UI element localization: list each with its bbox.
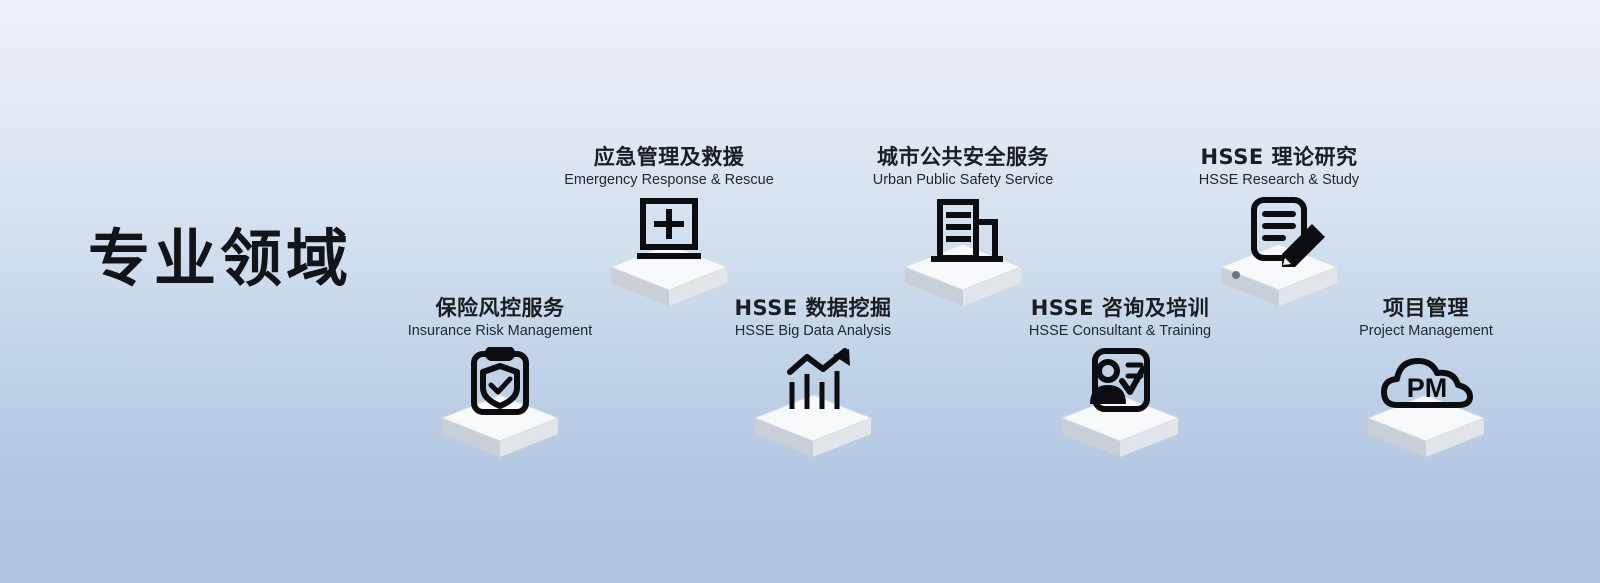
domain-subtitle: Insurance Risk Management bbox=[365, 323, 635, 340]
domain-card-hsse-research-study[interactable]: HSSE 理论研究 HSSE Research & Study bbox=[1144, 145, 1414, 316]
document-pencil-icon bbox=[1199, 196, 1359, 311]
domain-illustration bbox=[678, 347, 948, 467]
cloud-pm-icon: PM bbox=[1346, 347, 1506, 462]
clipboard-shield-check-icon bbox=[420, 347, 580, 462]
domain-title: HSSE 数据挖掘 bbox=[678, 296, 948, 320]
domain-title: 城市公共安全服务 bbox=[828, 145, 1098, 169]
domain-subtitle: Project Management bbox=[1291, 323, 1561, 340]
pedestal-shape bbox=[755, 395, 871, 457]
domain-illustration: PM bbox=[1291, 347, 1561, 467]
page-title: 专业领域 bbox=[88, 228, 352, 290]
bar-chart-trend-arrow-icon bbox=[733, 347, 893, 462]
domain-card-insurance-risk-management[interactable]: 保险风控服务 Insurance Risk Management bbox=[365, 296, 635, 467]
domain-subtitle: Emergency Response & Rescue bbox=[534, 172, 804, 189]
domain-illustration bbox=[985, 347, 1255, 467]
domain-card-project-management[interactable]: 项目管理 Project Management PM bbox=[1291, 296, 1561, 467]
domain-title: HSSE 咨询及培训 bbox=[985, 296, 1255, 320]
pm-label: PM bbox=[1407, 373, 1448, 403]
professional-domains-infographic: 专业领域 应急管理及救援 Emergency Response & Rescue bbox=[0, 0, 1600, 583]
domain-title: 保险风控服务 bbox=[365, 296, 635, 320]
domain-illustration bbox=[365, 347, 635, 467]
domain-subtitle: HSSE Consultant & Training bbox=[985, 323, 1255, 340]
domain-card-hsse-big-data-analysis[interactable]: HSSE 数据挖掘 HSSE Big Data Analysis bbox=[678, 296, 948, 467]
domain-title: HSSE 理论研究 bbox=[1144, 145, 1414, 169]
person-id-card-check-icon bbox=[1040, 347, 1200, 462]
domain-title: 应急管理及救援 bbox=[534, 145, 804, 169]
domain-title: 项目管理 bbox=[1291, 296, 1561, 320]
domain-card-hsse-consultant-training[interactable]: HSSE 咨询及培训 HSSE Consultant & Training bbox=[985, 296, 1255, 467]
domain-card-emergency-response-rescue[interactable]: 应急管理及救援 Emergency Response & Rescue bbox=[534, 145, 804, 316]
pedestal-shape bbox=[1062, 395, 1178, 457]
domain-subtitle: HSSE Big Data Analysis bbox=[678, 323, 948, 340]
monitor-plus-icon bbox=[589, 196, 749, 311]
domain-card-urban-public-safety-service[interactable]: 城市公共安全服务 Urban Public Safety Service bbox=[828, 145, 1098, 316]
domain-subtitle: Urban Public Safety Service bbox=[828, 172, 1098, 189]
domain-subtitle: HSSE Research & Study bbox=[1144, 172, 1414, 189]
office-building-icon bbox=[883, 196, 1043, 311]
